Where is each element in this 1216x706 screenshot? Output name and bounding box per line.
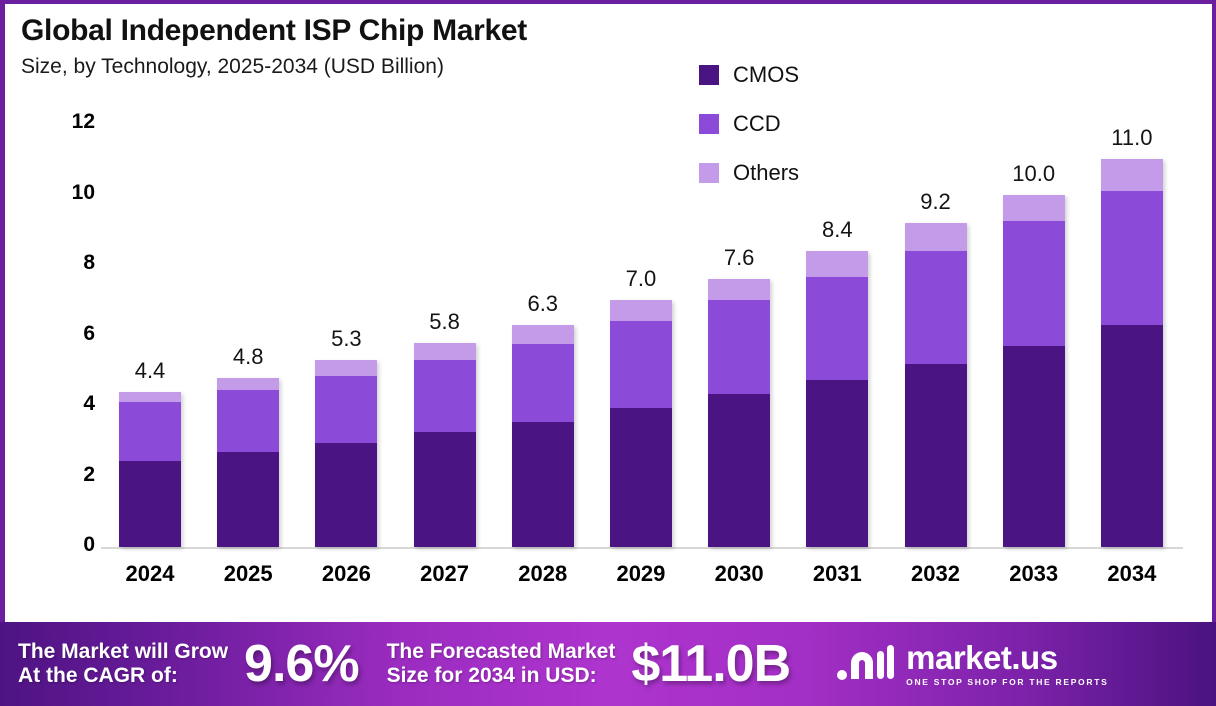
y-axis-tick-label: 8 bbox=[83, 251, 95, 275]
stacked-bar[interactable] bbox=[708, 279, 770, 547]
x-axis-tick-label-2030: 2030 bbox=[690, 561, 788, 587]
bar-segment-ccd[interactable] bbox=[905, 251, 967, 364]
bar-group-2031[interactable]: 8.4 bbox=[788, 124, 886, 547]
forecast-label: The Forecasted Market Size for 2034 in U… bbox=[387, 640, 616, 688]
stacked-bar[interactable] bbox=[1003, 195, 1065, 547]
x-axis-tick-label-2031: 2031 bbox=[788, 561, 886, 587]
bar-segment-others[interactable] bbox=[610, 300, 672, 321]
bar-segment-cmos[interactable] bbox=[217, 452, 279, 547]
market-us-logo[interactable]: market.us ONE STOP SHOP FOR THE REPORTS bbox=[836, 641, 1108, 688]
legend-label: CMOS bbox=[733, 62, 799, 88]
bar-total-label: 8.4 bbox=[788, 217, 886, 243]
bar-segment-others[interactable] bbox=[315, 360, 377, 376]
forecast-block: The Forecasted Market Size for 2034 in U… bbox=[387, 634, 791, 694]
bar-segment-others[interactable] bbox=[1003, 195, 1065, 221]
x-axis-tick-label-2033: 2033 bbox=[985, 561, 1083, 587]
x-axis-baseline bbox=[101, 547, 1183, 549]
bar-segment-cmos[interactable] bbox=[1101, 325, 1163, 547]
bar-segment-cmos[interactable] bbox=[708, 394, 770, 547]
bar-segment-others[interactable] bbox=[119, 392, 181, 403]
bar-total-label: 4.8 bbox=[199, 344, 297, 370]
bar-total-label: 7.6 bbox=[690, 245, 788, 271]
bar-total-label: 11.0 bbox=[1083, 125, 1181, 151]
logo-wordmark: market.us bbox=[906, 641, 1108, 674]
bar-total-label: 5.3 bbox=[297, 326, 395, 352]
x-axis-tick-label-2026: 2026 bbox=[297, 561, 395, 587]
market-us-logo-mark-icon bbox=[836, 641, 896, 688]
bar-group-2032[interactable]: 9.2 bbox=[887, 124, 985, 547]
bar-total-label: 9.2 bbox=[887, 189, 985, 215]
x-axis-tick-label-2025: 2025 bbox=[199, 561, 297, 587]
cagr-value: 9.6% bbox=[244, 634, 359, 694]
bar-segment-cmos[interactable] bbox=[119, 461, 181, 547]
cagr-label: The Market will Grow At the CAGR of: bbox=[18, 640, 228, 688]
legend-swatch-icon-cmos bbox=[699, 65, 719, 85]
x-axis-tick-label-2028: 2028 bbox=[494, 561, 592, 587]
bar-segment-ccd[interactable] bbox=[119, 402, 181, 460]
forecast-value: $11.0B bbox=[631, 634, 790, 694]
stacked-bar[interactable] bbox=[1101, 159, 1163, 547]
bar-group-2024[interactable]: 4.4 bbox=[101, 124, 199, 547]
stacked-bar[interactable] bbox=[119, 392, 181, 547]
bar-segment-ccd[interactable] bbox=[708, 300, 770, 393]
bar-segment-others[interactable] bbox=[1101, 159, 1163, 191]
x-axis-tick-label-2029: 2029 bbox=[592, 561, 690, 587]
bar-segment-ccd[interactable] bbox=[610, 321, 672, 407]
stacked-bar[interactable] bbox=[905, 223, 967, 547]
cagr-label-line2: At the CAGR of: bbox=[18, 664, 228, 688]
x-axis-tick-label-2024: 2024 bbox=[101, 561, 199, 587]
bar-segment-cmos[interactable] bbox=[1003, 346, 1065, 547]
bar-segment-ccd[interactable] bbox=[1101, 191, 1163, 325]
bar-group-2034[interactable]: 11.0 bbox=[1083, 124, 1181, 547]
chart-header: Global Independent ISP Chip Market Size,… bbox=[21, 14, 527, 79]
bar-segment-others[interactable] bbox=[414, 343, 476, 361]
stacked-bar[interactable] bbox=[315, 360, 377, 547]
bar-segment-cmos[interactable] bbox=[610, 408, 672, 547]
bar-group-2033[interactable]: 10.0 bbox=[985, 124, 1083, 547]
cagr-label-line1: The Market will Grow bbox=[18, 640, 228, 664]
bar-segment-others[interactable] bbox=[512, 325, 574, 344]
stacked-bar[interactable] bbox=[806, 251, 868, 547]
bar-segment-cmos[interactable] bbox=[512, 422, 574, 547]
market-us-logo-text: market.us ONE STOP SHOP FOR THE REPORTS bbox=[906, 641, 1108, 687]
bar-segment-ccd[interactable] bbox=[512, 344, 574, 422]
bar-total-label: 7.0 bbox=[592, 266, 690, 292]
y-axis-tick-label: 2 bbox=[83, 463, 95, 487]
legend-item-cmos[interactable]: CMOS bbox=[699, 62, 799, 88]
bar-group-2028[interactable]: 6.3 bbox=[494, 124, 592, 547]
bar-total-label: 4.4 bbox=[101, 358, 199, 384]
bar-total-label: 5.8 bbox=[396, 309, 494, 335]
page-title: Global Independent ISP Chip Market bbox=[21, 14, 527, 48]
x-axis-tick-label-2027: 2027 bbox=[396, 561, 494, 587]
bar-segment-others[interactable] bbox=[217, 378, 279, 390]
y-axis-tick-label: 6 bbox=[83, 322, 95, 346]
forecast-label-line1: The Forecasted Market bbox=[387, 640, 616, 664]
bar-group-2027[interactable]: 5.8 bbox=[396, 124, 494, 547]
bar-segment-ccd[interactable] bbox=[414, 360, 476, 432]
x-axis-tick-label-2032: 2032 bbox=[887, 561, 985, 587]
stacked-bar[interactable] bbox=[217, 378, 279, 547]
bar-group-2026[interactable]: 5.3 bbox=[297, 124, 395, 547]
bar-segment-cmos[interactable] bbox=[315, 443, 377, 547]
bar-segment-others[interactable] bbox=[905, 223, 967, 251]
chart-subtitle: Size, by Technology, 2025-2034 (USD Bill… bbox=[21, 55, 527, 79]
bar-series-container: 4.44.85.35.86.37.07.68.49.210.011.0 bbox=[101, 124, 1181, 547]
x-axis: 2024202520262027202820292030203120322033… bbox=[101, 561, 1181, 587]
bar-segment-ccd[interactable] bbox=[1003, 221, 1065, 346]
bar-total-label: 6.3 bbox=[494, 291, 592, 317]
y-axis: 024681012 bbox=[45, 122, 95, 551]
bar-segment-cmos[interactable] bbox=[806, 380, 868, 547]
bar-segment-cmos[interactable] bbox=[905, 364, 967, 547]
x-axis-tick-label-2034: 2034 bbox=[1083, 561, 1181, 587]
bar-segment-cmos[interactable] bbox=[414, 432, 476, 547]
y-axis-tick-label: 4 bbox=[83, 392, 95, 416]
y-axis-tick-label: 10 bbox=[72, 181, 95, 205]
forecast-label-line2: Size for 2034 in USD: bbox=[387, 664, 616, 688]
infographic-chart-page: Global Independent ISP Chip Market Size,… bbox=[0, 0, 1216, 706]
bar-segment-ccd[interactable] bbox=[806, 277, 868, 379]
bar-group-2025[interactable]: 4.8 bbox=[199, 124, 297, 547]
bar-group-2029[interactable]: 7.0 bbox=[592, 124, 690, 547]
stacked-bar[interactable] bbox=[512, 325, 574, 547]
y-axis-tick-label: 0 bbox=[83, 533, 95, 557]
footer-banner: The Market will Grow At the CAGR of: 9.6… bbox=[0, 622, 1216, 706]
logo-tagline: ONE STOP SHOP FOR THE REPORTS bbox=[906, 677, 1108, 687]
bar-group-2030[interactable]: 7.6 bbox=[690, 124, 788, 547]
stacked-bar[interactable] bbox=[610, 300, 672, 547]
bar-segment-ccd[interactable] bbox=[315, 376, 377, 443]
bar-segment-others[interactable] bbox=[708, 279, 770, 300]
y-axis-tick-label: 12 bbox=[72, 110, 95, 134]
bar-segment-others[interactable] bbox=[806, 251, 868, 277]
bar-total-label: 10.0 bbox=[985, 161, 1083, 187]
cagr-block: The Market will Grow At the CAGR of: 9.6… bbox=[18, 634, 359, 694]
bar-segment-ccd[interactable] bbox=[217, 390, 279, 452]
stacked-bar[interactable] bbox=[414, 343, 476, 547]
